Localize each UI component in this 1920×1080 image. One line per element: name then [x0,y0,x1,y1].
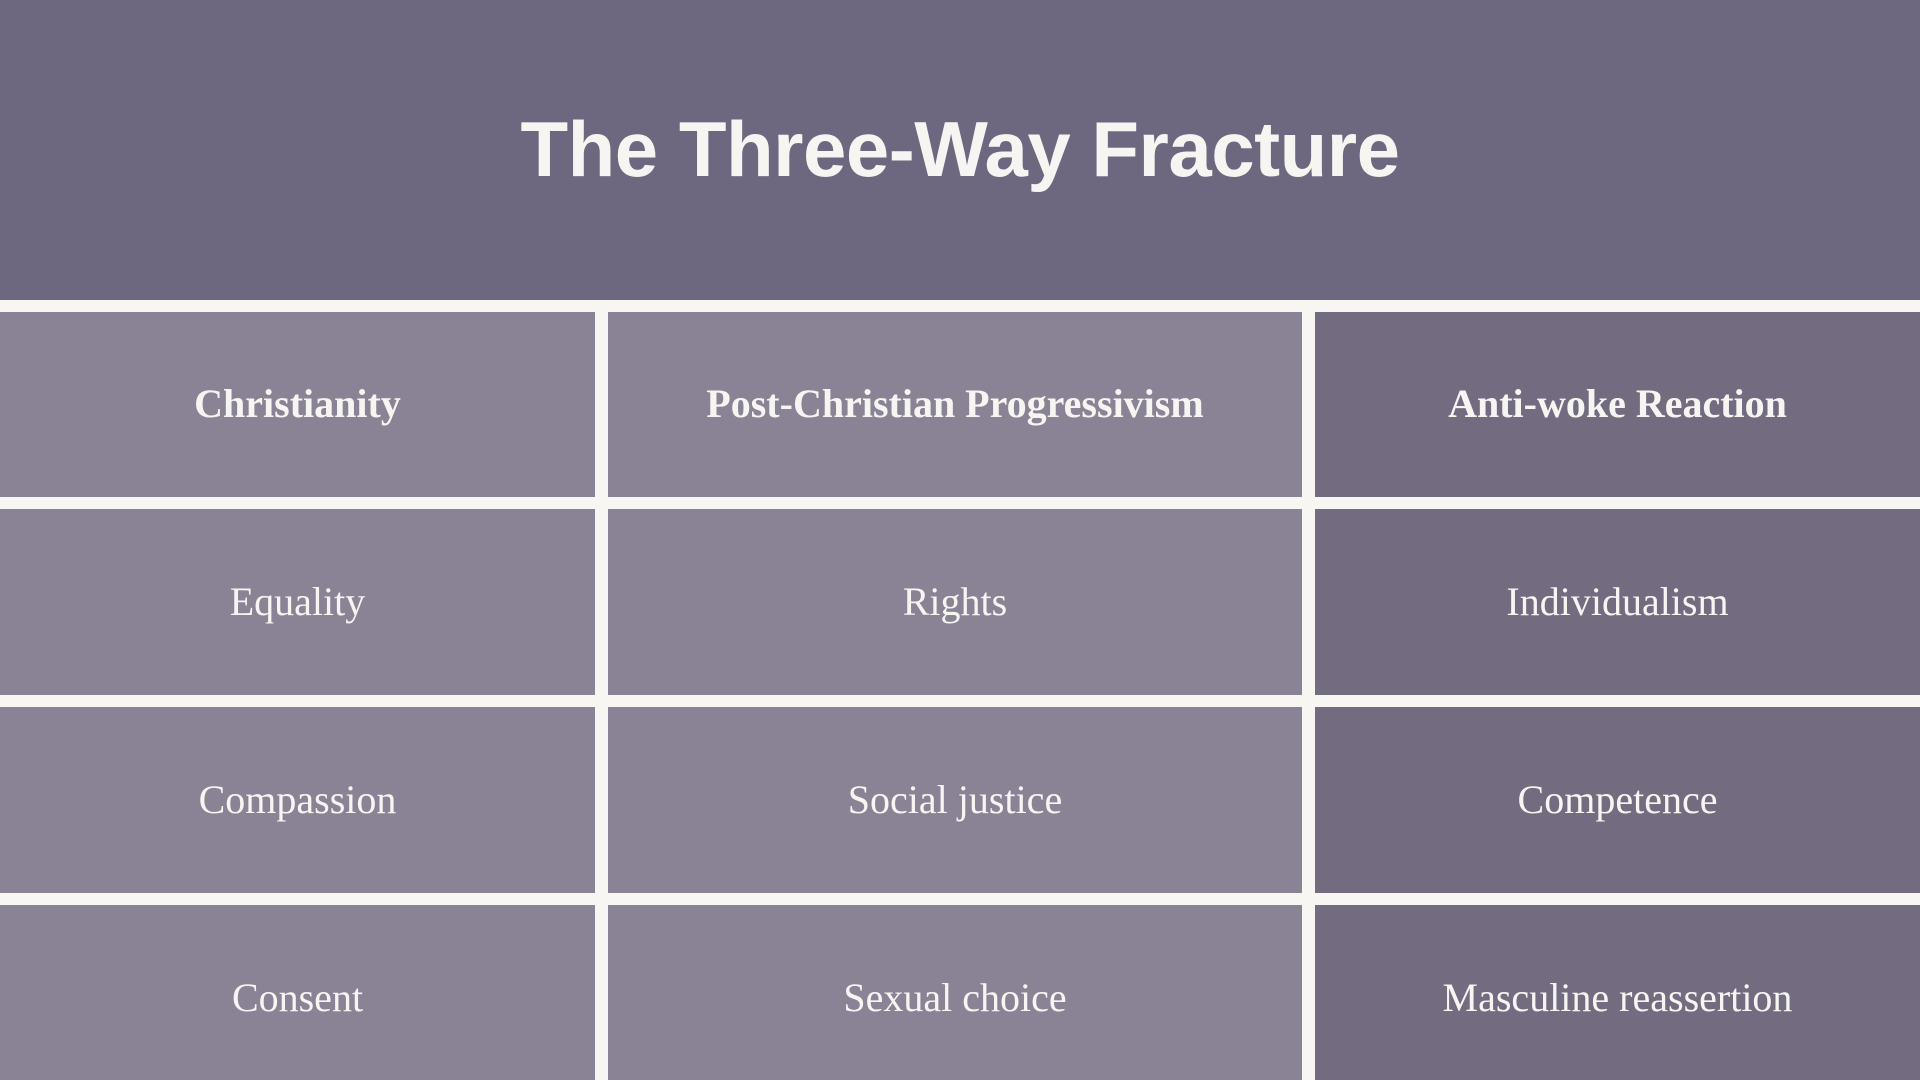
page-title: The Three-Way Fracture [461,109,1460,191]
table-cell-r3c2: Sexual choice [608,905,1302,1080]
table-cell-r1c2: Rights [608,509,1302,695]
table-header-cell-christianity: Christianity [0,312,595,497]
table-cell-r2c1: Compassion [0,707,595,893]
table-header-cell-post-christian-progressivism: Post-Christian Progressivism [608,312,1302,497]
title-banner: The Three-Way Fracture [0,0,1920,300]
comparison-table: Christianity Post-Christian Progressivis… [0,300,1920,1080]
table-row: Compassion Social justice Competence [0,707,1920,893]
table-cell-r3c1: Consent [0,905,595,1080]
table-header-cell-anti-woke-reaction: Anti-woke Reaction [1315,312,1920,497]
table-row: Equality Rights Individualism [0,509,1920,695]
table-cell-r2c2: Social justice [608,707,1302,893]
slide: The Three-Way Fracture Christianity Post… [0,0,1920,1080]
table-cell-r1c3: Individualism [1315,509,1920,695]
table-cell-r1c1: Equality [0,509,595,695]
table-cell-r3c3: Masculine reassertion [1315,905,1920,1080]
table-row: Consent Sexual choice Masculine reassert… [0,905,1920,1080]
table-header-row: Christianity Post-Christian Progressivis… [0,312,1920,497]
table-cell-r2c3: Competence [1315,707,1920,893]
